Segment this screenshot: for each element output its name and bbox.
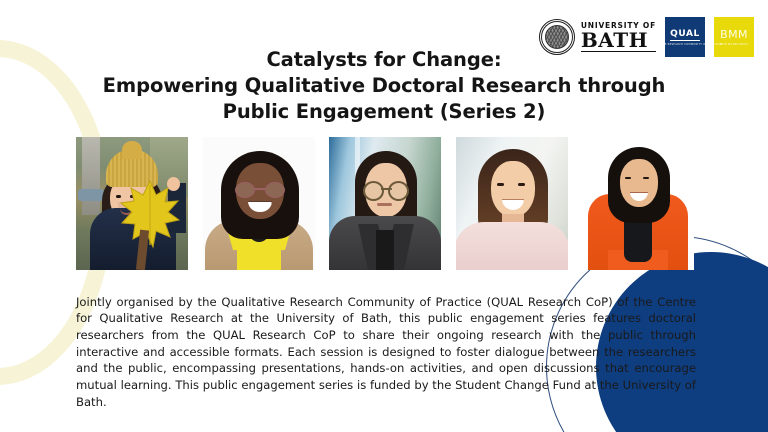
presenter-photo-1 bbox=[76, 137, 188, 270]
presenter-photo-4 bbox=[456, 137, 568, 270]
photo1-maple-leaf-icon bbox=[120, 179, 180, 249]
slide-body-text: Jointly organised by the Qualitative Res… bbox=[76, 294, 696, 411]
photo2-lens-right bbox=[265, 182, 285, 198]
presenter-photo-2 bbox=[203, 137, 315, 270]
photo2-lens-left bbox=[235, 182, 255, 198]
photo3-glasses-icon bbox=[362, 181, 410, 197]
title-line-1: Catalysts for Change: bbox=[70, 47, 698, 73]
photo3-lens-left bbox=[363, 181, 384, 201]
bmm-logo-main: BMM bbox=[720, 28, 748, 41]
qual-logo-sub: QUALITATIVE RESEARCH COMMUNITY OF PRACTI… bbox=[648, 43, 723, 46]
presenter-photo-3 bbox=[329, 137, 441, 270]
photo4-blush-top bbox=[456, 222, 568, 270]
presentation-slide: UNIVERSITY OF BATH QUAL QUALITATIVE RESE… bbox=[0, 0, 768, 432]
bmm-logo-sub: BATH MILNER MEDIA bbox=[720, 43, 748, 46]
title-line-2: Empowering Qualitative Doctoral Research… bbox=[70, 73, 698, 99]
photo3-mouth bbox=[377, 203, 392, 206]
photo4-eye-left bbox=[497, 183, 504, 186]
presenter-photo-5 bbox=[582, 137, 694, 270]
bmm-logo: BMM BATH MILNER MEDIA bbox=[714, 17, 754, 57]
photo2-glasses-icon bbox=[235, 182, 285, 196]
photo1-background-building bbox=[82, 137, 100, 215]
qual-logo-main: QUAL bbox=[670, 29, 700, 41]
photo3-lens-right bbox=[388, 181, 409, 201]
title-line-3: Public Engagement (Series 2) bbox=[70, 99, 698, 125]
slide-title: Catalysts for Change: Empowering Qualita… bbox=[70, 47, 698, 125]
photo2-glasses-bridge bbox=[254, 188, 266, 190]
photo1-knit-hat-top bbox=[122, 141, 142, 159]
photo3-inner-top bbox=[376, 230, 394, 270]
photo4-eye-right bbox=[518, 183, 525, 186]
photo1-background-car bbox=[78, 189, 104, 201]
presenter-photo-strip bbox=[76, 137, 694, 270]
